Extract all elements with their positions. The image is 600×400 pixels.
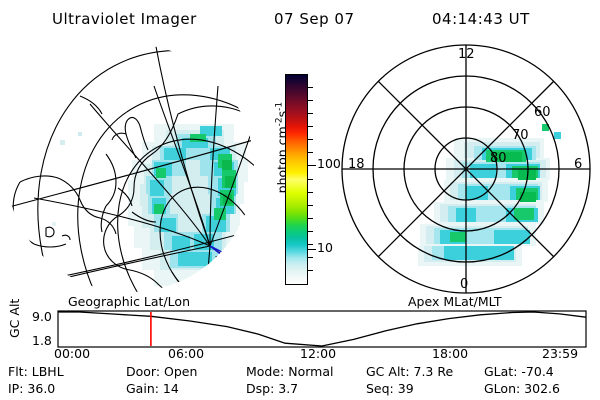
status-seq: Seq: 39	[366, 381, 414, 396]
orbit-altitude-plot: GC Alt 9.0 1.8 00:0006:0012:0018:0023:59	[0, 302, 600, 358]
orbit-xtick-2359: 23:59	[542, 346, 578, 361]
observation-date: 07 Sep 07	[274, 10, 354, 28]
orbit-ytick-high: 9.0	[32, 309, 52, 324]
colorbar-minor-tick	[307, 257, 313, 258]
colorbar-minor-tick	[307, 192, 313, 193]
orbit-xtick-1200: 12:00	[300, 346, 336, 361]
geographic-map-panel: Geographic Lat/Lon	[4, 42, 256, 294]
status-ip: IP: 36.0	[8, 381, 55, 396]
mlt-label-6: 6	[574, 157, 582, 172]
mlt-label-18: 18	[348, 157, 365, 172]
colorbar-minor-tick	[307, 205, 313, 206]
apex-dial-svg: 12 18 6 0 60 70 80	[334, 42, 596, 294]
colorbar-minor-tick	[307, 139, 313, 140]
status-door: Door: Open	[126, 364, 197, 379]
status-dsp: Dsp: 3.7	[246, 381, 298, 396]
colorbar-minor-tick	[307, 179, 313, 180]
orbit-y-axis-label: GC Alt	[8, 322, 21, 338]
mlat-label-80: 80	[490, 151, 507, 166]
mlt-label-12: 12	[458, 47, 475, 62]
colorbar-label-exp1: -2	[274, 117, 284, 126]
status-glat: GLat: -70.4	[484, 364, 554, 379]
colorbar-minor-tick	[307, 152, 313, 153]
orbit-xtick-0600: 06:00	[168, 346, 204, 361]
colorbar-panel: photon cm-2s-1 10010	[256, 44, 334, 294]
colorbar-gradient	[286, 75, 307, 284]
orbit-altitude-curve	[58, 312, 586, 346]
status-glon: GLon: 302.6	[484, 381, 560, 396]
orbit-ytick-low: 1.8	[32, 333, 52, 348]
status-gain: Gain: 14	[126, 381, 179, 396]
colorbar-minor-tick	[307, 126, 313, 127]
aurora-emission-layer	[52, 124, 248, 286]
colorbar-minor-tick	[307, 113, 313, 114]
instrument-title: Ultraviolet Imager	[52, 10, 197, 28]
orbit-xtick-1800: 18:00	[432, 346, 468, 361]
colorbar-major-tick-100	[307, 165, 316, 166]
colorbar-label-exp2: -1	[274, 102, 284, 111]
dial-grid	[342, 45, 590, 293]
geographic-map-svg	[4, 42, 256, 294]
mlat-label-70: 70	[512, 128, 529, 143]
colorbar-gradient-box	[285, 74, 308, 285]
status-gcalt: GC Alt: 7.3 Re	[366, 364, 453, 379]
colorbar-minor-tick	[307, 87, 313, 88]
colorbar-major-tick-10	[307, 249, 316, 250]
header-bar: Ultraviolet Imager 07 Sep 07 04:14:43 UT	[0, 6, 600, 32]
ultraviolet-imager-display: Ultraviolet Imager 07 Sep 07 04:14:43 UT	[0, 0, 600, 400]
colorbar-minor-tick	[307, 100, 313, 101]
colorbar-minor-tick	[307, 218, 313, 219]
colorbar-minor-tick	[307, 231, 313, 232]
apex-dial-panel: 12 18 6 0 60 70 80 Apex MLat/MLT	[334, 42, 596, 294]
mlat-label-60: 60	[534, 105, 551, 120]
orbit-plot-frame	[58, 311, 586, 347]
status-mode: Mode: Normal	[246, 364, 333, 379]
status-flt: Flt: LBHL	[8, 364, 64, 379]
colorbar-minor-tick	[307, 244, 313, 245]
mlt-label-0: 0	[460, 277, 468, 292]
status-footer: Flt: LBHL Door: Open Mode: Normal GC Alt…	[0, 364, 600, 398]
colorbar-minor-tick	[307, 270, 313, 271]
observation-time: 04:14:43 UT	[432, 10, 530, 28]
colorbar-tick-label-10: 10	[317, 242, 333, 255]
orbit-xtick-0000: 00:00	[54, 346, 90, 361]
